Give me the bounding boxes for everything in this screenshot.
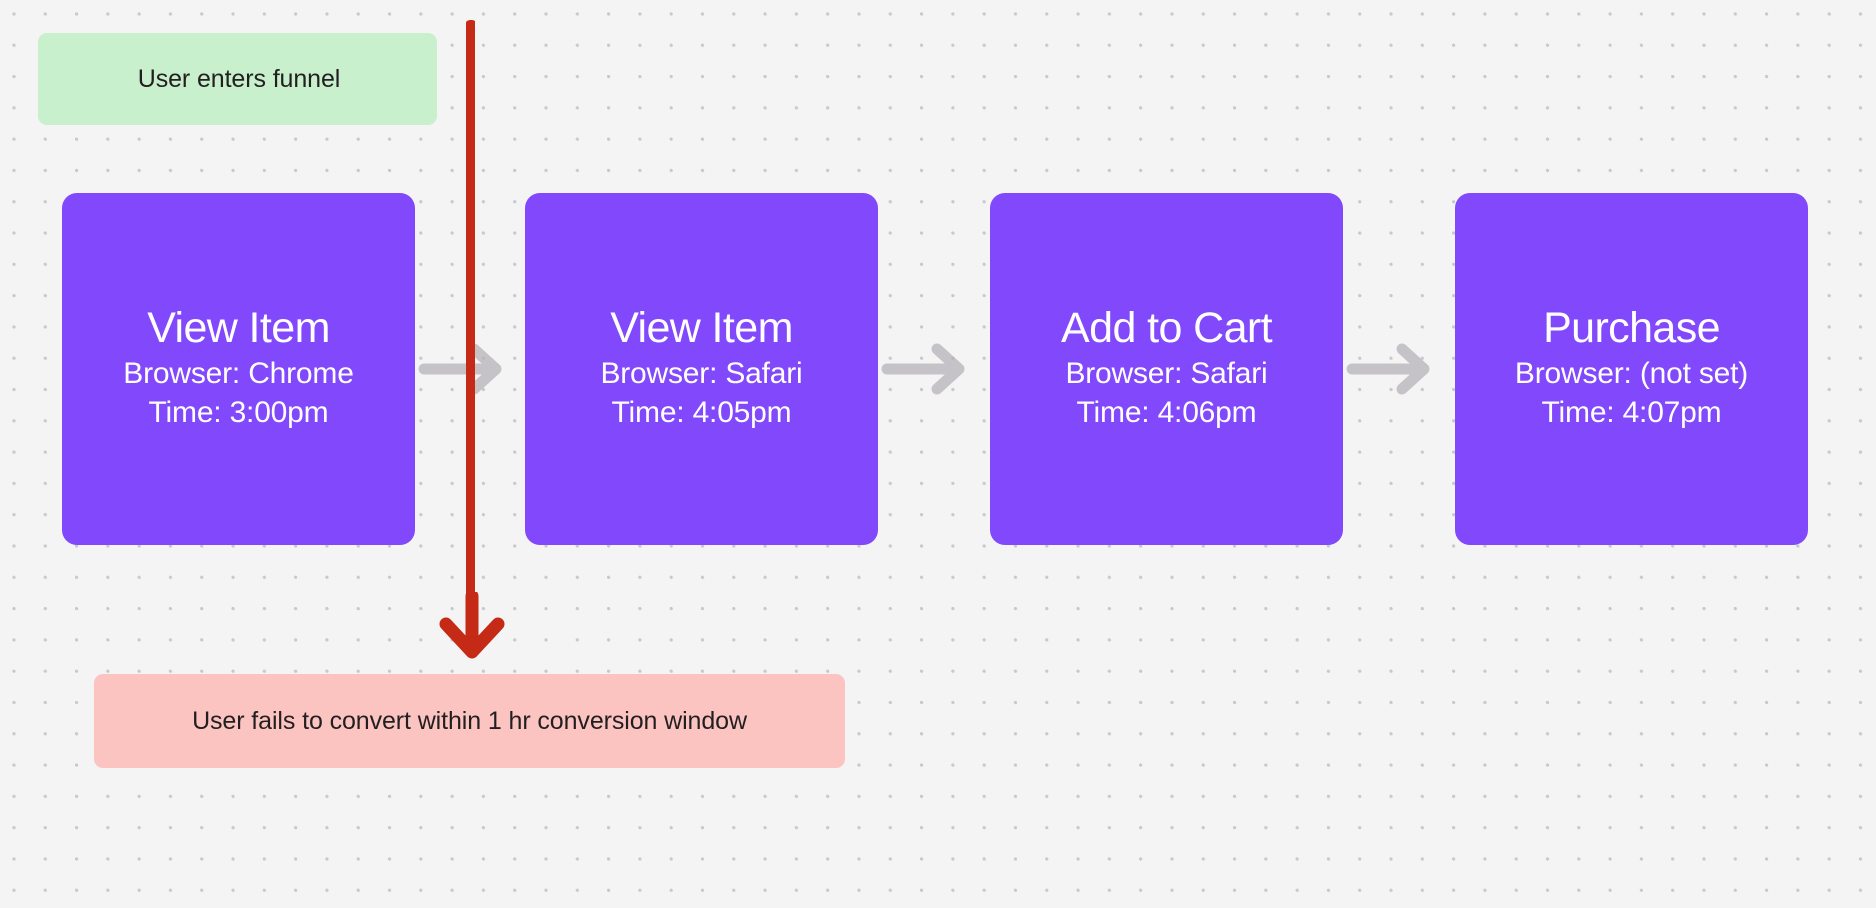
annotation-entry-label: User enters funnel (135, 65, 340, 94)
conversion-window-dashed-line (465, 20, 477, 618)
funnel-step-4-time: Time: 4:07pm (1542, 393, 1722, 433)
funnel-step-2-title: View Item (610, 305, 793, 351)
arrow-right-icon (418, 343, 506, 395)
funnel-step-3-time: Time: 4:06pm (1077, 393, 1257, 433)
funnel-step-3-browser: Browser: Safari (1065, 354, 1267, 394)
arrow-right-icon (881, 343, 969, 395)
funnel-step-2-browser: Browser: Safari (600, 354, 802, 394)
annotation-conversion-failure[interactable]: User fails to convert within 1 hr conver… (94, 674, 845, 768)
diagram-canvas: User enters funnel View Item Browser: Ch… (0, 0, 1876, 908)
funnel-step-1-browser: Browser: Chrome (123, 354, 353, 394)
annotation-user-enters-funnel[interactable]: User enters funnel (38, 33, 437, 125)
funnel-step-2-time: Time: 4:05pm (612, 393, 792, 433)
funnel-step-1-time: Time: 3:00pm (149, 393, 329, 433)
funnel-step-card-2[interactable]: View Item Browser: Safari Time: 4:05pm (525, 193, 878, 545)
funnel-step-1-title: View Item (147, 305, 330, 351)
funnel-step-card-3[interactable]: Add to Cart Browser: Safari Time: 4:06pm (990, 193, 1343, 545)
arrow-down-icon (437, 592, 507, 664)
funnel-step-card-4[interactable]: Purchase Browser: (not set) Time: 4:07pm (1455, 193, 1808, 545)
arrow-right-icon (1346, 343, 1434, 395)
funnel-step-3-title: Add to Cart (1061, 305, 1272, 351)
funnel-step-4-browser: Browser: (not set) (1515, 354, 1748, 394)
annotation-failure-label: User fails to convert within 1 hr conver… (192, 707, 747, 736)
funnel-step-4-title: Purchase (1543, 305, 1720, 351)
funnel-step-card-1[interactable]: View Item Browser: Chrome Time: 3:00pm (62, 193, 415, 545)
